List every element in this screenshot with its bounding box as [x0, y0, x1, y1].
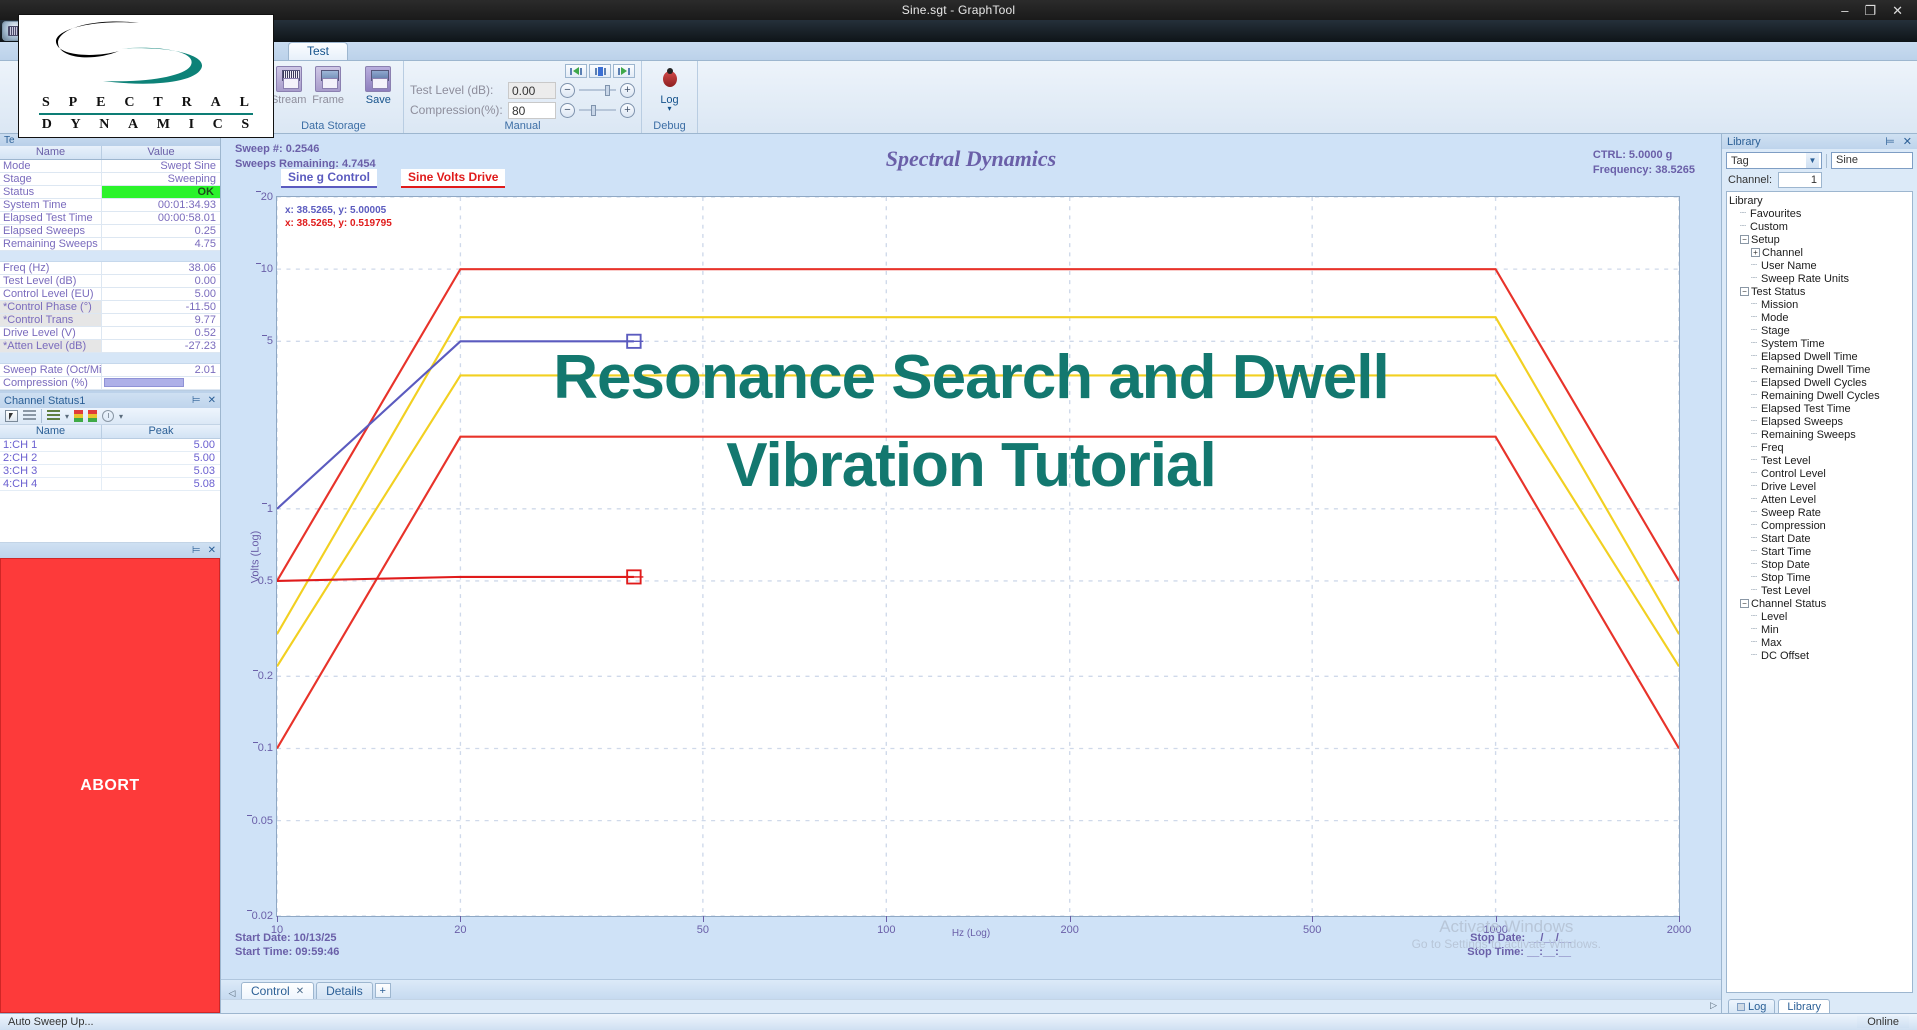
tree-node-label: Library	[1729, 195, 1763, 207]
tree-node[interactable]: ┈Elapsed Dwell Time	[1729, 350, 1912, 363]
library-panel: Library ⊨ ✕ Tag ▼ Sine Channel: 1 Librar…	[1721, 134, 1917, 1013]
close-icon[interactable]: ✕	[1892, 4, 1903, 17]
pin-icon[interactable]: ⊨	[192, 545, 201, 556]
y-tick-label: 0.2	[258, 670, 273, 682]
tab-test[interactable]: Test	[288, 42, 348, 60]
sweep-number: Sweep #: 0.2546	[235, 142, 376, 157]
sweep-hold-icon[interactable]	[589, 64, 611, 78]
table-row-spacer	[0, 353, 220, 364]
tag-select-value: Tag	[1731, 155, 1749, 167]
ctrl-level: CTRL: 5.0000 g	[1593, 148, 1695, 163]
table-row[interactable]: 1:CH 15.00	[0, 439, 220, 452]
minimize-icon[interactable]: –	[1841, 4, 1848, 17]
activate-windows-subtitle: Go to Settings to activate Windows.	[1412, 937, 1601, 951]
tree-node[interactable]: ┈Remaining Dwell Time	[1729, 363, 1912, 376]
stream-icon	[276, 66, 302, 92]
status-bar: Auto Sweep Up... Online	[0, 1013, 1917, 1030]
row-value: 0.00	[102, 275, 220, 287]
channel-filter-row: Channel: 1	[1722, 172, 1917, 191]
tree-node-label: Elapsed Test Time	[1761, 403, 1851, 415]
tree-node-label: Drive Level	[1761, 481, 1816, 493]
table-row-spacer	[0, 251, 220, 262]
row-value: 0.25	[102, 225, 220, 237]
scroll-right-icon[interactable]: ▷	[1710, 1000, 1717, 1011]
row-value: 2.01	[102, 364, 220, 376]
tree-node-label: Compression	[1761, 520, 1826, 532]
group-debug: Log ▾ Debug	[642, 61, 698, 133]
spectral-dynamics-logo: SPECTRAL DYNAMICS	[18, 14, 274, 138]
x-tick-mark	[1312, 916, 1313, 922]
tree-node-label: Sweep Rate	[1761, 507, 1821, 519]
tree-node-label: Elapsed Dwell Time	[1761, 351, 1858, 363]
start-dates: Start Date: 10/13/25 Start Time: 09:59:4…	[235, 931, 339, 959]
logo-swoosh-icon	[19, 15, 275, 97]
channel-table: 1:CH 15.002:CH 25.003:CH 35.034:CH 45.08	[0, 439, 220, 491]
y-tick-label: 0.1	[258, 742, 273, 754]
tree-node[interactable]: ┈Elapsed Dwell Cycles	[1729, 376, 1912, 389]
tree-node[interactable]: +Channel	[1729, 246, 1912, 259]
tree-node-label: Elapsed Dwell Cycles	[1761, 377, 1867, 389]
row-value: 9.77	[102, 314, 220, 326]
tree-node[interactable]: ┈Stage	[1729, 324, 1912, 337]
row-value	[102, 377, 220, 389]
sweep-nav-buttons	[410, 63, 635, 80]
channel-status-header: Channel Status1 ⊨ ✕	[0, 393, 220, 408]
row-label: Compression (%)	[0, 377, 102, 389]
tag-select[interactable]: Tag ▼	[1726, 152, 1822, 169]
table-row[interactable]: 4:CH 45.08	[0, 478, 220, 491]
row-label: *Control Trans	[0, 314, 102, 326]
ctrl-frequency: Frequency: 38.5265	[1593, 163, 1695, 178]
status-table: ModeSwept SineStageSweepingStatusOKSyste…	[0, 160, 220, 391]
data-series-high-alarm-limit	[277, 317, 1679, 634]
tree-node[interactable]: ┈Remaining Dwell Cycles	[1729, 389, 1912, 402]
tree-node[interactable]: −Channel Status	[1729, 597, 1912, 610]
x-tick-mark	[886, 916, 887, 922]
tree-node[interactable]: ┈Start Time	[1729, 545, 1912, 558]
close-icon[interactable]: ✕	[296, 986, 304, 997]
table-row[interactable]: Drive Level (V)0.52	[0, 327, 220, 340]
sort-caret-icon[interactable]: ▾	[65, 412, 69, 421]
table-row[interactable]: Control Level (EU)5.00	[0, 288, 220, 301]
tree-connector-icon: ┈	[1751, 624, 1761, 635]
activate-windows-title: Activate Windows	[1412, 917, 1601, 937]
channel-table-header: Name Peak	[0, 425, 220, 439]
tree-node-label: Custom	[1750, 221, 1788, 233]
test-level-label: Test Level (dB):	[410, 83, 504, 97]
cursor-readout-control: x: 38.5265, y: 5.00005	[285, 204, 392, 217]
limits-ryg-icon[interactable]	[88, 410, 97, 422]
test-level-slider[interactable]	[579, 83, 616, 97]
tree-connector-icon: ┈	[1751, 364, 1761, 375]
channel-input[interactable]: 1	[1778, 172, 1822, 188]
tree-node[interactable]: ┈Stop Date	[1729, 558, 1912, 571]
tree-node[interactable]: ┈Test Level	[1729, 584, 1912, 597]
row-value: 0.52	[102, 327, 220, 339]
frame-button[interactable]: Frame	[309, 63, 346, 106]
maximize-icon[interactable]: ❐	[1864, 4, 1876, 17]
tree-node[interactable]: ┈Test Level	[1729, 454, 1912, 467]
tree-connector-icon: ┈	[1751, 546, 1761, 557]
ribbon: Test Stream Frame Save	[0, 42, 1917, 134]
tree-connector-icon: ┈	[1751, 507, 1761, 518]
sweep-up-icon[interactable]	[613, 64, 635, 78]
tree-connector-icon: ┈	[1751, 429, 1761, 440]
group-title-debug: Debug	[642, 120, 697, 132]
tab-details[interactable]: Details	[316, 982, 373, 999]
save-icon	[365, 66, 391, 92]
row-label: Elapsed Test Time	[0, 212, 102, 224]
tree-node[interactable]: ┈Freq	[1729, 441, 1912, 454]
save-label: Save	[366, 94, 391, 106]
logo-text-spectral: SPECTRAL	[19, 95, 273, 111]
tree-node-label: Stop Time	[1761, 572, 1811, 584]
channel-peak: 5.08	[102, 478, 220, 490]
table-row[interactable]: System Time00:01:34.93	[0, 199, 220, 212]
row-value: -11.50	[102, 301, 220, 313]
tree-node[interactable]: ┈Start Date	[1729, 532, 1912, 545]
title-bar: Sine.sgt - GraphTool – ❐ ✕	[0, 0, 1917, 20]
online-indicator: Online	[1857, 1016, 1909, 1028]
add-tab-button[interactable]: +	[375, 983, 391, 998]
row-label: *Atten Level (dB)	[0, 340, 102, 352]
table-row[interactable]: 2:CH 25.00	[0, 452, 220, 465]
y-tick-label: 5	[267, 335, 273, 347]
y-tick-mark	[262, 335, 267, 336]
quick-access-toolbar: ▾	[0, 20, 1917, 42]
channel-name: 1:CH 1	[0, 439, 102, 451]
tree-node[interactable]: Library	[1729, 194, 1912, 207]
row-label: Elapsed Sweeps	[0, 225, 102, 237]
tree-node-label: System Time	[1761, 338, 1825, 350]
close-icon[interactable]: ✕	[208, 395, 216, 406]
logo-text-dynamics: DYNAMICS	[19, 117, 273, 133]
tree-node-label: Min	[1761, 624, 1779, 636]
channel-col-peak: Peak	[102, 425, 220, 438]
logo-letter: N	[99, 117, 110, 133]
logo-divider	[39, 113, 253, 115]
close-icon[interactable]: ✕	[208, 545, 216, 556]
select-tool-icon[interactable]	[5, 410, 18, 422]
main-area: Te Name Value ModeSwept SineStageSweepin…	[0, 134, 1917, 1013]
collapse-icon[interactable]: −	[1740, 599, 1749, 608]
collapse-icon[interactable]: −	[1740, 235, 1749, 244]
abort-panel: ⊨ ✕ ABORT	[0, 543, 220, 1013]
tree-connector-icon: ┈	[1751, 611, 1761, 622]
tree-node-label: Sweep Rate Units	[1761, 273, 1849, 285]
test-level-input[interactable]: 0.00	[508, 82, 556, 99]
tree-node[interactable]: ┈Sweep Rate	[1729, 506, 1912, 519]
y-tick-label: 0.02	[252, 910, 273, 922]
test-level-minus-button[interactable]: −	[560, 83, 575, 98]
x-tick-mark	[703, 916, 704, 922]
row-value: 00:00:58.01	[102, 212, 220, 224]
y-tick-label: 20	[261, 191, 273, 203]
stream-button[interactable]: Stream	[270, 63, 307, 106]
tree-node-label: Channel	[1762, 247, 1803, 259]
row-label: Freq (Hz)	[0, 262, 102, 274]
group-manual: Test Level (dB): 0.00 − + Compression(%)…	[404, 61, 642, 133]
compression-label: Compression(%):	[410, 103, 504, 117]
channel-status-title: Channel Status1	[4, 395, 85, 407]
channel-label: Channel:	[1728, 174, 1772, 186]
table-row[interactable]: StatusOK	[0, 186, 220, 199]
tree-node-label: Mode	[1761, 312, 1789, 324]
y-tick-label: 0.05	[252, 815, 273, 827]
tree-node-label: Test Level	[1761, 455, 1811, 467]
compression-minus-button[interactable]: −	[560, 103, 575, 118]
channel-peak: 5.00	[102, 439, 220, 451]
tree-node[interactable]: ┈System Time	[1729, 337, 1912, 350]
row-label: *Control Phase (°)	[0, 301, 102, 313]
ctrl-info: CTRL: 5.0000 g Frequency: 38.5265	[1593, 148, 1695, 178]
tree-connector-icon: ┈	[1751, 585, 1761, 596]
row-value: -27.23	[102, 340, 220, 352]
divider	[41, 409, 42, 423]
log-caret-icon[interactable]: ▾	[667, 104, 671, 113]
y-tick-label: 10	[261, 263, 273, 275]
tree-node[interactable]: ┈Atten Level	[1729, 493, 1912, 506]
tree-node-label: Test Status	[1751, 286, 1805, 298]
tab-log-label: Log	[1748, 1001, 1766, 1013]
tree-connector-icon: ┈	[1751, 338, 1761, 349]
tree-node[interactable]: ┈Mode	[1729, 311, 1912, 324]
expand-icon[interactable]: +	[1751, 248, 1760, 257]
table-row[interactable]: Elapsed Sweeps0.25	[0, 225, 220, 238]
tree-connector-icon: ┈	[1751, 377, 1761, 388]
tree-connector-icon: ┈	[1751, 520, 1761, 531]
tree-node-label: Stop Date	[1761, 559, 1810, 571]
tree-node-label: Remaining Dwell Time	[1761, 364, 1870, 376]
chart-document: Spectral Dynamics Sweep #: 0.2546 Sweeps…	[221, 134, 1721, 1013]
y-tick-mark	[247, 910, 252, 911]
row-value: 00:01:34.93	[102, 199, 220, 211]
logo-letter: A	[128, 117, 139, 133]
table-row[interactable]: Sweep Rate (Oct/Min)2.01	[0, 364, 220, 377]
tree-connector-icon: ┈	[1751, 481, 1761, 492]
tree-node[interactable]: −Test Status	[1729, 285, 1912, 298]
level-ryg-icon[interactable]	[74, 410, 83, 422]
row-label: Remaining Sweeps	[0, 238, 102, 250]
save-button[interactable]: Save	[360, 63, 397, 106]
data-series-high-abort-limit	[277, 269, 1679, 581]
close-icon[interactable]: ✕	[1903, 135, 1912, 148]
clock-caret-icon[interactable]: ▾	[119, 412, 123, 421]
tree-node[interactable]: ┈User Name	[1729, 259, 1912, 272]
tree-node-label: Mission	[1761, 299, 1798, 311]
tree-connector-icon: ┈	[1751, 312, 1761, 323]
test-level-plus-button[interactable]: +	[620, 83, 635, 98]
test-level-row: Test Level (dB): 0.00 − +	[410, 80, 635, 100]
tree-node-label: Start Date	[1761, 533, 1811, 545]
logo-letter: E	[96, 95, 106, 111]
divider	[1826, 154, 1827, 168]
tag-filter-input[interactable]: Sine	[1831, 152, 1913, 169]
table-row[interactable]: *Control Phase (°)-11.50	[0, 301, 220, 314]
tree-node[interactable]: ┈Max	[1729, 636, 1912, 649]
tree-connector-icon: ┈	[1751, 390, 1761, 401]
tree-connector-icon: ┈	[1751, 351, 1761, 362]
tree-connector-icon: ┈	[1751, 416, 1761, 427]
table-row[interactable]: StageSweeping	[0, 173, 220, 186]
logo-letter: S	[241, 117, 250, 133]
tree-node-label: Favourites	[1750, 208, 1801, 220]
group-data-storage: Stream Frame Save Data Storage	[264, 61, 404, 133]
tree-node[interactable]: ┈Custom	[1729, 220, 1912, 233]
channel-peak: 5.03	[102, 465, 220, 477]
log-icon	[1737, 1003, 1745, 1011]
logo-letter: I	[189, 117, 195, 133]
compression-input[interactable]: 80	[508, 102, 556, 119]
row-label: Control Level (EU)	[0, 288, 102, 300]
tree-node-label: Control Level	[1761, 468, 1826, 480]
clock-icon[interactable]	[102, 410, 114, 422]
tree-node[interactable]: ┈Mission	[1729, 298, 1912, 311]
y-tick-label: 1	[267, 503, 273, 515]
tree-node[interactable]: −Setup	[1729, 233, 1912, 246]
channel-table-empty-space	[0, 491, 220, 543]
collapse-icon[interactable]: −	[1740, 287, 1749, 296]
tree-connector-icon: ┈	[1751, 637, 1761, 648]
tree-connector-icon: ┈	[1751, 494, 1761, 505]
tree-node-label: User Name	[1761, 260, 1817, 272]
tree-node-label: Level	[1761, 611, 1787, 623]
row-label: Stage	[0, 173, 102, 185]
tab-control-label: Control	[251, 984, 290, 998]
table-row[interactable]: *Atten Level (dB)-27.23	[0, 340, 220, 353]
row-value: 38.06	[102, 262, 220, 274]
tree-node-label: Freq	[1761, 442, 1784, 454]
legend-item-sine-volts-drive[interactable]: Sine Volts Drive	[401, 169, 505, 188]
tree-node[interactable]: ┈Remaining Sweeps	[1729, 428, 1912, 441]
logo-letter: Y	[71, 117, 82, 133]
table-row[interactable]: Elapsed Test Time00:00:58.01	[0, 212, 220, 225]
tree-node[interactable]: ┈Drive Level	[1729, 480, 1912, 493]
chart-legend: Sine g Control Sine Volts Drive	[281, 169, 505, 188]
chevron-down-icon[interactable]: ▼	[1806, 153, 1819, 168]
abort-panel-header: ⊨ ✕	[0, 543, 220, 558]
tab-log[interactable]: Log	[1728, 999, 1775, 1013]
legend-item-sine-g-control[interactable]: Sine g Control	[281, 169, 377, 188]
plot-canvas[interactable]	[277, 197, 1679, 916]
document-tabbar: ◁ Control ✕ Details +	[221, 979, 1721, 999]
table-row[interactable]: Freq (Hz)38.06	[0, 262, 220, 275]
tree-connector-icon: ┈	[1751, 299, 1761, 310]
table-row[interactable]: 3:CH 35.03	[0, 465, 220, 478]
tree-node[interactable]: ┈DC Offset	[1729, 649, 1912, 662]
tree-node[interactable]: ┈Favourites	[1729, 207, 1912, 220]
sweep-info: Sweep #: 0.2546 Sweeps Remaining: 4.7454	[235, 142, 376, 172]
x-tick-mark	[1070, 916, 1071, 922]
tab-control[interactable]: Control ✕	[241, 982, 314, 999]
tab-library[interactable]: Library	[1778, 999, 1830, 1013]
tree-node[interactable]: ┈Sweep Rate Units	[1729, 272, 1912, 285]
library-tree[interactable]: Library┈Favourites┈Custom−Setup+Channel┈…	[1726, 191, 1913, 993]
row-label: Test Level (dB)	[0, 275, 102, 287]
group-title-manual: Manual	[404, 120, 641, 132]
table-row[interactable]: ModeSwept Sine	[0, 160, 220, 173]
start-time: Start Time: 09:59:46	[235, 945, 339, 959]
table-row[interactable]: Remaining Sweeps4.75	[0, 238, 220, 251]
x-tick-mark	[277, 916, 278, 922]
ribbon-tabstrip: Test	[0, 42, 1917, 61]
library-bottom-tabs: Log Library	[1722, 997, 1917, 1013]
y-tick-mark	[253, 742, 258, 743]
cursor-readout: x: 38.5265, y: 5.00005 x: 38.5265, y: 0.…	[285, 204, 392, 230]
row-value: OK	[102, 186, 220, 198]
tree-node-label: Remaining Dwell Cycles	[1761, 390, 1880, 402]
table-row[interactable]: *Control Trans9.77	[0, 314, 220, 327]
status-col-name: Name	[0, 146, 102, 159]
channel-name: 3:CH 3	[0, 465, 102, 477]
log-button[interactable]: Log ▾	[648, 63, 691, 113]
abort-button[interactable]: ABORT	[0, 558, 220, 1013]
channel-name: 4:CH 4	[0, 478, 102, 490]
tree-node-label: Atten Level	[1761, 494, 1816, 506]
logo-letter: D	[42, 117, 53, 133]
data-series-low-alarm-limit	[277, 375, 1679, 666]
channel-status-toolbar: ▾ ▾	[0, 408, 220, 425]
table-row[interactable]: Test Level (dB)0.00	[0, 275, 220, 288]
group-title-data-storage: Data Storage	[264, 120, 403, 132]
logo-letter: P	[69, 95, 79, 111]
sort-icon[interactable]	[47, 410, 60, 422]
align-lines-icon[interactable]	[23, 410, 36, 422]
tree-connector-icon: ┈	[1751, 455, 1761, 466]
stream-label: Stream	[271, 94, 306, 106]
tab-details-label: Details	[326, 984, 363, 998]
compression-plus-button[interactable]: +	[620, 103, 635, 118]
row-value: 4.75	[102, 238, 220, 250]
tree-node[interactable]: ┈Elapsed Sweeps	[1729, 415, 1912, 428]
logo-letter: A	[211, 95, 222, 111]
tree-node-label: Setup	[1751, 234, 1780, 246]
tree-node-label: Start Time	[1761, 546, 1811, 558]
tree-node[interactable]: ┈Level	[1729, 610, 1912, 623]
tree-node[interactable]: ┈Elapsed Test Time	[1729, 402, 1912, 415]
tree-node-label: Stage	[1761, 325, 1790, 337]
row-label: System Time	[0, 199, 102, 211]
channel-peak: 5.00	[102, 452, 220, 464]
logo-letter: T	[153, 95, 163, 111]
row-value: Sweeping	[102, 173, 220, 185]
row-value: Swept Sine	[102, 160, 220, 172]
tree-node[interactable]: ┈Min	[1729, 623, 1912, 636]
tree-connector-icon: ┈	[1751, 260, 1761, 271]
sweep-down-icon[interactable]	[565, 64, 587, 78]
library-filter-row: Tag ▼ Sine	[1722, 149, 1917, 172]
compression-slider[interactable]	[579, 103, 616, 117]
tree-node[interactable]: ┈Control Level	[1729, 467, 1912, 480]
status-table-header: Name Value	[0, 146, 220, 160]
x-tick-mark	[460, 916, 461, 922]
pin-icon[interactable]: ⊨	[192, 395, 201, 406]
tree-node[interactable]: ┈Stop Time	[1729, 571, 1912, 584]
horizontal-scrollbar[interactable]: ▷	[221, 999, 1721, 1013]
pin-icon[interactable]: ⊨	[1885, 135, 1895, 148]
row-label: Mode	[0, 160, 102, 172]
tab-scroll-left-icon[interactable]: ◁	[225, 988, 239, 999]
start-date: Start Date: 10/13/25	[235, 931, 339, 945]
window-title: Sine.sgt - GraphTool	[902, 3, 1015, 17]
plot-box[interactable]: 2010510.50.20.10.050.02 1020501002005001…	[276, 196, 1680, 917]
tree-node[interactable]: ┈Compression	[1729, 519, 1912, 532]
data-series-low-abort-limit	[277, 437, 1679, 749]
logo-letter: C	[213, 117, 224, 133]
compression-row: Compression(%): 80 − +	[410, 100, 635, 120]
row-label: Sweep Rate (Oct/Min)	[0, 364, 102, 376]
table-row[interactable]: Compression (%)	[0, 377, 220, 390]
